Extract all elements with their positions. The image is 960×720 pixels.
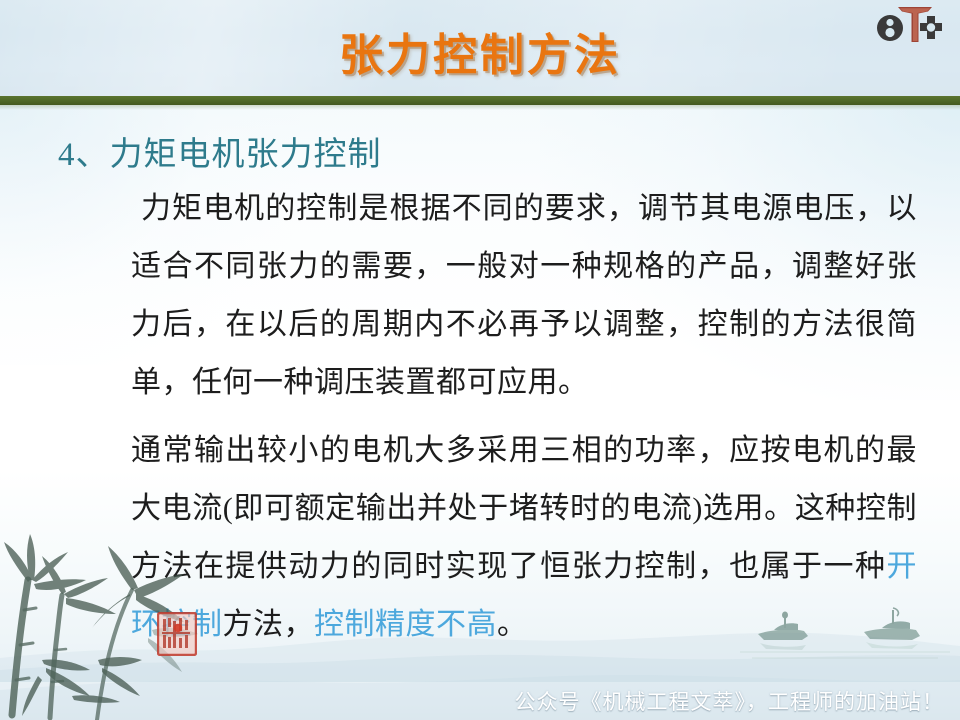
header-divider	[0, 96, 960, 105]
page-title: 张力控制方法	[0, 28, 960, 84]
paragraph-2-highlight-accuracy: 控制精度不高	[314, 608, 497, 641]
paragraph-1: 力矩电机的控制是根据不同的要求，调节其电源电压，以适合不同张力的需要，一般对一种…	[131, 180, 917, 412]
fishing-boats-illustration	[740, 602, 950, 672]
header-divider-shadow	[0, 105, 960, 110]
section-heading: 4、力矩电机张力控制	[58, 127, 382, 175]
red-seal-stamp	[157, 612, 197, 656]
slide-canvas: 张力控制方法 4、力矩电机张力控制 力矩电机的控制是根据不同的要求，调节其电源电…	[0, 0, 960, 720]
paragraph-2-after: 。	[497, 608, 528, 641]
byx-company-logo	[870, 2, 948, 48]
footer-watermark: 公众号《机械工程文萃》，工程师的加油站！	[0, 686, 952, 716]
